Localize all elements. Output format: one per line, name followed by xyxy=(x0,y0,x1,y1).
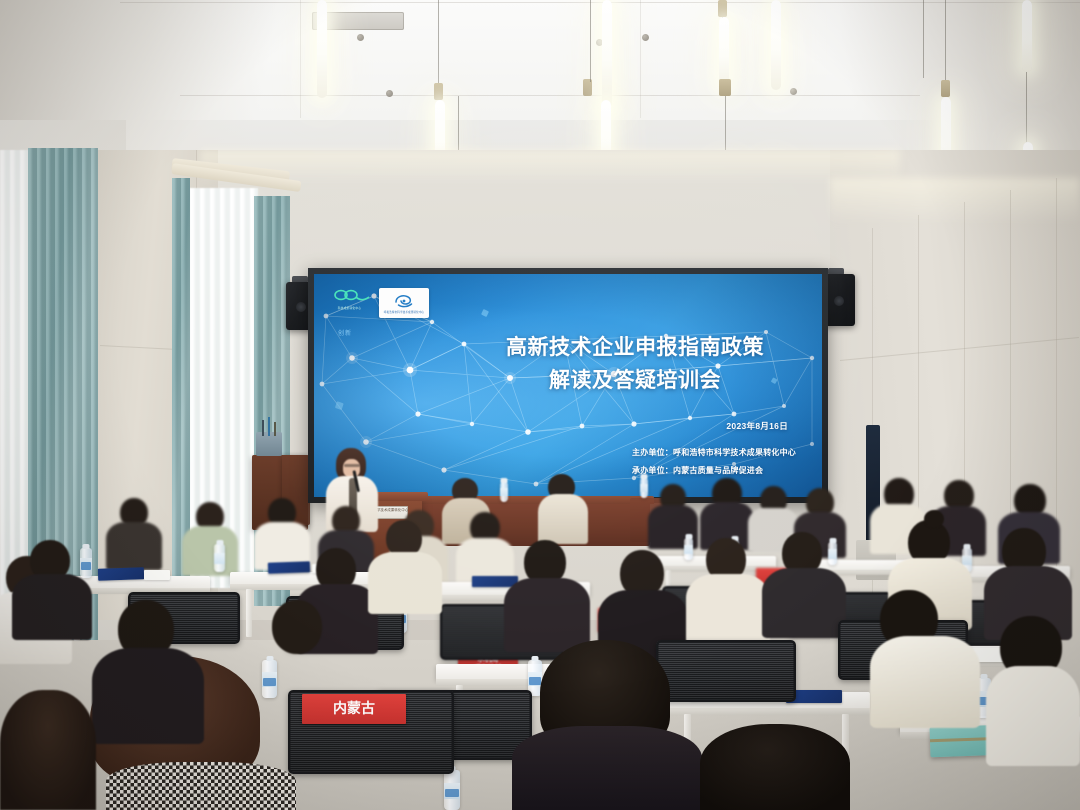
bottle-cap xyxy=(685,534,692,539)
screen-date: 2023年8月16日 xyxy=(726,420,788,432)
paper-sheet xyxy=(144,570,170,580)
desk-leg xyxy=(246,589,252,637)
desk-edge xyxy=(660,708,870,715)
wall-uplight xyxy=(830,178,1080,224)
bottle-cap xyxy=(216,540,223,545)
swirl-logo-caption: 呼和浩特市科学技术成果转化中心 xyxy=(384,310,424,314)
pendant-wire xyxy=(590,0,591,82)
pendant-light xyxy=(602,0,612,108)
name-card-text: 内蒙古 xyxy=(333,700,375,718)
knot-logo-caption: 科技成果转化中心 xyxy=(332,306,367,310)
foreground-person-hair xyxy=(700,724,850,810)
audience-head xyxy=(272,600,322,654)
pendant-wire xyxy=(923,0,924,78)
screen-title: 高新技术企业申报指南政策 解读及答疑培训会 xyxy=(470,332,800,397)
bottle-label xyxy=(828,549,837,558)
audience-hair-bun xyxy=(924,510,944,528)
speaker-glasses-icon xyxy=(344,464,360,467)
pen-icon xyxy=(274,422,276,436)
bottle-cap xyxy=(501,478,508,483)
knot-logo-icon xyxy=(332,288,370,304)
head-table-person-body xyxy=(538,494,588,544)
bottle-cap xyxy=(532,656,539,661)
screen-logo-group: 科技成果转化中心 呼和浩特市科学技术成果转化中心 xyxy=(332,288,429,318)
water-bottle xyxy=(262,660,277,698)
document-folder xyxy=(98,567,144,581)
sprinkler-icon xyxy=(357,34,364,41)
screen-watermark: 创新 xyxy=(338,328,352,337)
bottle-cap xyxy=(83,544,90,549)
water-bottle xyxy=(80,548,92,578)
water-bottle xyxy=(214,544,225,572)
pendant-wire xyxy=(438,0,439,85)
bottle-cap xyxy=(641,474,648,479)
audience-body xyxy=(106,522,162,570)
pendant-light xyxy=(317,0,327,98)
bottle-cap xyxy=(829,538,836,543)
audience-body xyxy=(182,526,238,576)
pendant-light xyxy=(771,0,781,90)
bottle-label xyxy=(444,783,460,799)
water-bottle xyxy=(640,478,648,498)
sprinkler-icon xyxy=(790,88,797,95)
ceiling-seam xyxy=(120,2,1080,3)
swirl-logo-icon xyxy=(393,293,415,309)
pen-icon xyxy=(268,417,270,436)
led-screen[interactable]: 科技成果转化中心 呼和浩特市科学技术成果转化中心 创新 高新技术企业申报指南政策 xyxy=(314,274,822,497)
bottle-cap xyxy=(266,656,273,661)
water-bottle xyxy=(684,538,693,560)
pendant-cap xyxy=(434,83,443,100)
water-bottle xyxy=(828,542,837,565)
screen-coorganizer: 承办单位：内蒙古质量与品牌促进会 xyxy=(632,462,796,480)
bottle-cap xyxy=(964,544,971,549)
ceiling-seam xyxy=(640,0,641,118)
bottle-label xyxy=(214,553,225,564)
bottle-label xyxy=(80,558,92,570)
document-folder xyxy=(268,561,310,573)
water-bottle xyxy=(444,770,460,810)
pen-icon xyxy=(262,420,264,436)
conference-room-photo: 科技成果转化中心 呼和浩特市科学技术成果转化中心 创新 高新技术企业申报指南政策 xyxy=(0,0,1080,810)
bottle-label xyxy=(262,672,277,687)
screen-title-line1: 高新技术企业申报指南政策 xyxy=(470,332,800,365)
audience-body xyxy=(986,666,1080,766)
speaker-cone-icon xyxy=(834,296,844,306)
ceiling-seam xyxy=(180,95,920,96)
foreground-person-hair xyxy=(0,690,96,810)
foreground-person-top xyxy=(106,762,296,810)
pendant-cap xyxy=(941,80,950,97)
led-screen-frame: 科技成果转化中心 呼和浩特市科学技术成果转化中心 创新 高新技术企业申报指南政策 xyxy=(308,268,828,503)
pendant-wire xyxy=(1026,72,1027,142)
bottle-label xyxy=(500,488,508,496)
screen-organizer: 主办单位：呼和浩特市科学技术成果转化中心 xyxy=(632,444,796,462)
screen-title-line2: 解读及答疑培训会 xyxy=(470,365,800,398)
bottle-label-band xyxy=(263,678,276,686)
pendant-cap xyxy=(718,0,727,17)
ceiling-seam xyxy=(300,0,301,118)
audience-body xyxy=(686,574,770,644)
audience-body xyxy=(504,578,590,652)
pendant-light xyxy=(1022,0,1032,72)
screen-organizers: 主办单位：呼和浩特市科学技术成果转化中心 承办单位：内蒙古质量与品牌促进会 xyxy=(632,444,796,481)
bottle-label-band xyxy=(445,789,459,797)
audience-body xyxy=(368,552,442,614)
bottle-label-band xyxy=(529,677,541,685)
wall-uplight xyxy=(200,150,900,184)
water-bottle xyxy=(500,482,508,502)
speaker-cone-icon xyxy=(296,302,306,312)
audience-body xyxy=(870,636,980,728)
pendant-cap xyxy=(722,79,731,96)
bottle-label xyxy=(962,556,972,566)
bottle-label xyxy=(640,484,648,492)
knot-logo: 科技成果转化中心 xyxy=(332,288,370,311)
bottle-cap xyxy=(980,674,987,679)
name-card-inner-mongolia: 内蒙古 xyxy=(302,694,406,724)
sprinkler-icon xyxy=(386,90,393,97)
foreground-person-body xyxy=(512,726,702,810)
audience-body xyxy=(12,574,92,640)
chair xyxy=(656,640,796,702)
bottle-label xyxy=(684,545,693,554)
swirl-logo-box: 呼和浩特市科学技术成果转化中心 xyxy=(379,288,429,318)
audience-body xyxy=(92,648,204,744)
bottle-label-band xyxy=(81,562,91,570)
sprinkler-icon xyxy=(642,34,649,41)
audience-body xyxy=(762,568,846,638)
